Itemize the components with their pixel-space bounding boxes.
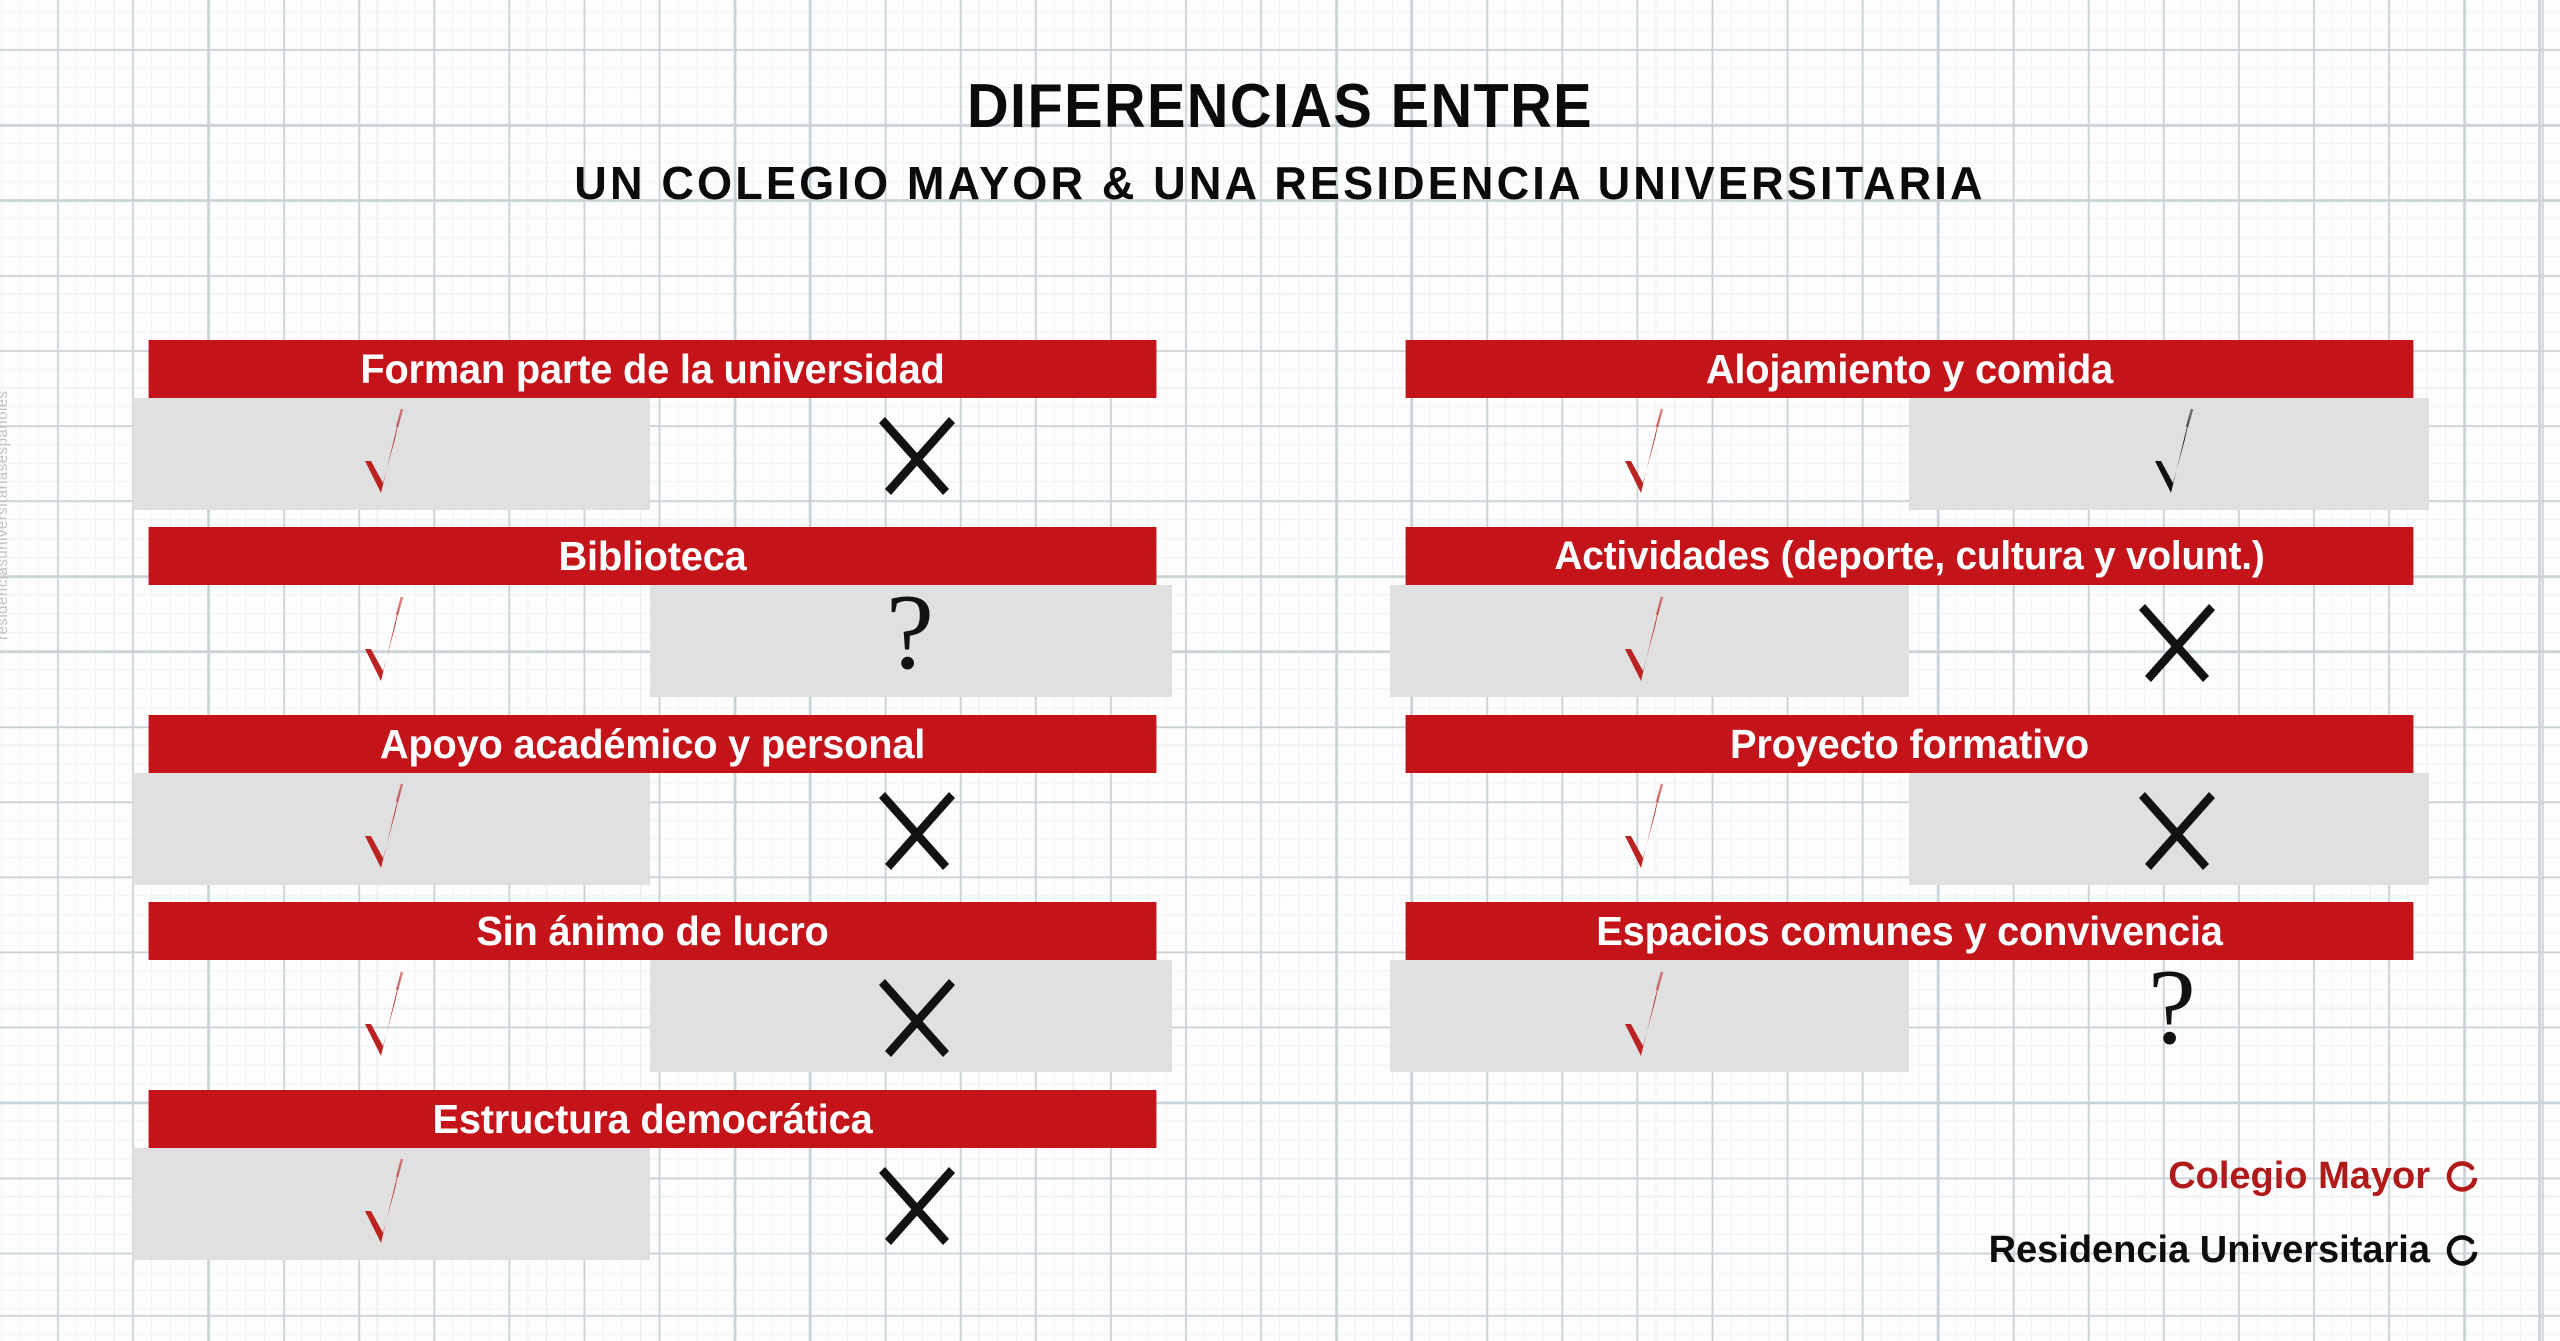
mark-cross-black	[857, 773, 977, 883]
title-block: DIFERENCIAS ENTRE UN COLEGIO MAYOR & UNA…	[0, 76, 2560, 210]
mark-check-red	[330, 963, 450, 1073]
page-title: DIFERENCIAS ENTRE	[90, 76, 2471, 138]
check-icon	[355, 968, 425, 1068]
mark-cross-black	[2117, 585, 2237, 695]
legend-residencia-label: Residencia Universitaria	[1989, 1229, 2430, 1272]
row-shade	[1390, 585, 1909, 697]
cross-icon	[2135, 596, 2219, 684]
row-banner-biblioteca: Biblioteca	[149, 527, 1157, 585]
row-shade	[650, 960, 1172, 1072]
cross-icon	[875, 784, 959, 872]
row-banner-apoyo-academico: Apoyo académico y personal	[149, 715, 1157, 773]
row-banner-actividades: Actividades (deporte, cultura y volunt.)	[1406, 527, 2414, 585]
mark-question-black: ?	[2112, 953, 2232, 1063]
row-shade	[1909, 773, 2429, 885]
infographic-canvas: residenciasuniversitariasespanoles DIFER…	[0, 0, 2560, 1341]
mark-cross-black	[857, 398, 977, 508]
watermark-text: residenciasuniversitariasespanoles	[0, 390, 11, 640]
legend-residencia-universitaria: Residencia Universitaria	[1989, 1229, 2482, 1272]
legend-colegio-mayor: Colegio Mayor	[2168, 1155, 2482, 1198]
question-mark-icon: ?	[2148, 954, 2196, 1062]
row-shade	[1390, 960, 1909, 1072]
check-icon	[1615, 405, 1685, 505]
hand-drawn-circle-icon	[2446, 1233, 2482, 1269]
legend-colegio-mayor-label: Colegio Mayor	[2168, 1155, 2430, 1198]
row-shade	[133, 398, 650, 510]
mark-check-red	[1590, 775, 1710, 885]
row-banner-forman-parte: Forman parte de la universidad	[149, 340, 1157, 398]
page-subtitle: UN COLEGIO MAYOR & UNA RESIDENCIA UNIVER…	[26, 156, 2535, 210]
check-icon	[1615, 780, 1685, 880]
row-banner-estructura-democratica: Estructura democrática	[149, 1090, 1157, 1148]
row-banner-espacios-comunes: Espacios comunes y convivencia	[1406, 902, 2414, 960]
check-icon	[355, 593, 425, 693]
mark-check-red	[1590, 400, 1710, 510]
hand-drawn-circle-icon	[2446, 1159, 2482, 1195]
row-shade	[133, 1148, 650, 1260]
row-banner-sin-animo-lucro: Sin ánimo de lucro	[149, 902, 1157, 960]
cross-icon	[875, 409, 959, 497]
row-banner-proyecto-formativo: Proyecto formativo	[1406, 715, 2414, 773]
mark-check-red	[330, 588, 450, 698]
row-shade	[650, 585, 1172, 697]
mark-cross-black	[857, 1148, 977, 1258]
row-shade	[1909, 398, 2429, 510]
row-shade	[133, 773, 650, 885]
row-banner-alojamiento-comida: Alojamiento y comida	[1406, 340, 2414, 398]
cross-icon	[875, 1159, 959, 1247]
